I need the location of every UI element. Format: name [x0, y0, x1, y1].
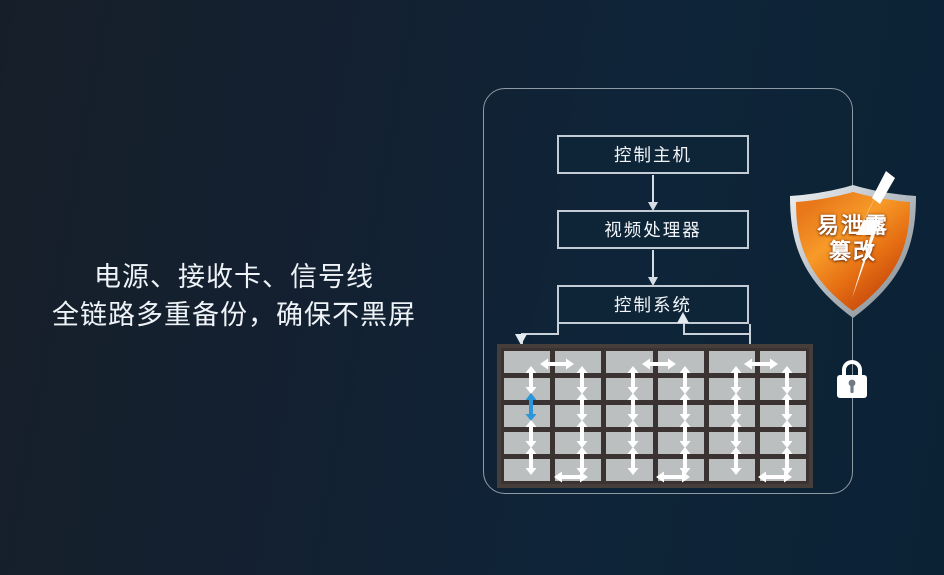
slide-caption: 电源、接收卡、信号线 全链路多重备份，确保不黑屏 — [0, 258, 468, 335]
padlock-icon — [833, 356, 871, 400]
wire-ctrl-right-run — [683, 333, 751, 335]
caption-line-1: 电源、接收卡、信号线 — [0, 258, 468, 296]
arrow-down-icon-video-to-control — [652, 250, 654, 278]
led-cabinet-cell[interactable] — [606, 405, 652, 427]
led-cabinet-cell[interactable] — [606, 432, 652, 454]
flow-box-control-host-label: 控制主机 — [614, 142, 692, 167]
led-cabinet-cell[interactable] — [555, 405, 601, 427]
warning-shield-badge[interactable]: 易泄露 篡改 — [786, 183, 920, 320]
led-cabinet-cell[interactable] — [504, 351, 550, 373]
led-cabinet-cell[interactable] — [760, 405, 806, 427]
led-cabinet-cell[interactable] — [658, 459, 704, 481]
led-cabinet-cell[interactable] — [555, 459, 601, 481]
caption-line-2: 全链路多重备份，确保不黑屏 — [0, 296, 468, 334]
led-cabinet-cell[interactable] — [709, 351, 755, 373]
led-cabinet-cell[interactable] — [504, 459, 550, 481]
led-cabinet-cell[interactable] — [658, 351, 704, 373]
led-cabinet-cell[interactable] — [709, 378, 755, 400]
led-cabinet-cell[interactable] — [555, 351, 601, 373]
led-cabinet-cell[interactable] — [606, 378, 652, 400]
led-cabinet-cell[interactable] — [555, 378, 601, 400]
led-cabinet-cell[interactable] — [658, 405, 704, 427]
shield-warning-text: 易泄露 篡改 — [786, 213, 920, 265]
arrow-up-icon-to-control — [677, 312, 689, 323]
shield-text-line-1: 易泄露 — [786, 213, 920, 239]
led-cabinet-cell[interactable] — [658, 432, 704, 454]
led-cabinet-cell[interactable] — [760, 432, 806, 454]
shield-text-line-2: 篡改 — [786, 239, 920, 265]
flow-box-control-host[interactable]: 控制主机 — [557, 135, 749, 174]
flow-box-control-system[interactable]: 控制系统 — [557, 285, 749, 324]
arrow-down-icon-host-to-video — [652, 175, 654, 203]
flow-box-video-processor-label: 视频处理器 — [604, 217, 702, 242]
led-cabinet-cell[interactable] — [658, 378, 704, 400]
led-cabinet-cell[interactable] — [709, 459, 755, 481]
led-cabinet-cell[interactable] — [504, 405, 550, 427]
led-cabinet-cell[interactable] — [709, 405, 755, 427]
led-cabinet-cell[interactable] — [504, 432, 550, 454]
led-cabinet-cell[interactable] — [504, 378, 550, 400]
led-cabinet-cell[interactable] — [555, 432, 601, 454]
led-display-panel[interactable] — [497, 344, 813, 488]
led-cabinet-cell[interactable] — [709, 432, 755, 454]
led-cabinet-cell[interactable] — [760, 351, 806, 373]
led-cabinet-cell[interactable] — [760, 459, 806, 481]
led-panel-grid — [504, 351, 806, 481]
led-cabinet-cell[interactable] — [760, 378, 806, 400]
led-cabinet-cell[interactable] — [606, 351, 652, 373]
led-cabinet-cell[interactable] — [606, 459, 652, 481]
wire-uplink-stub — [683, 322, 685, 334]
flow-box-video-processor[interactable]: 视频处理器 — [557, 210, 749, 249]
slide-canvas: 电源、接收卡、信号线 全链路多重备份，确保不黑屏 控制主机 视频处理器 控制系统 — [0, 0, 944, 575]
